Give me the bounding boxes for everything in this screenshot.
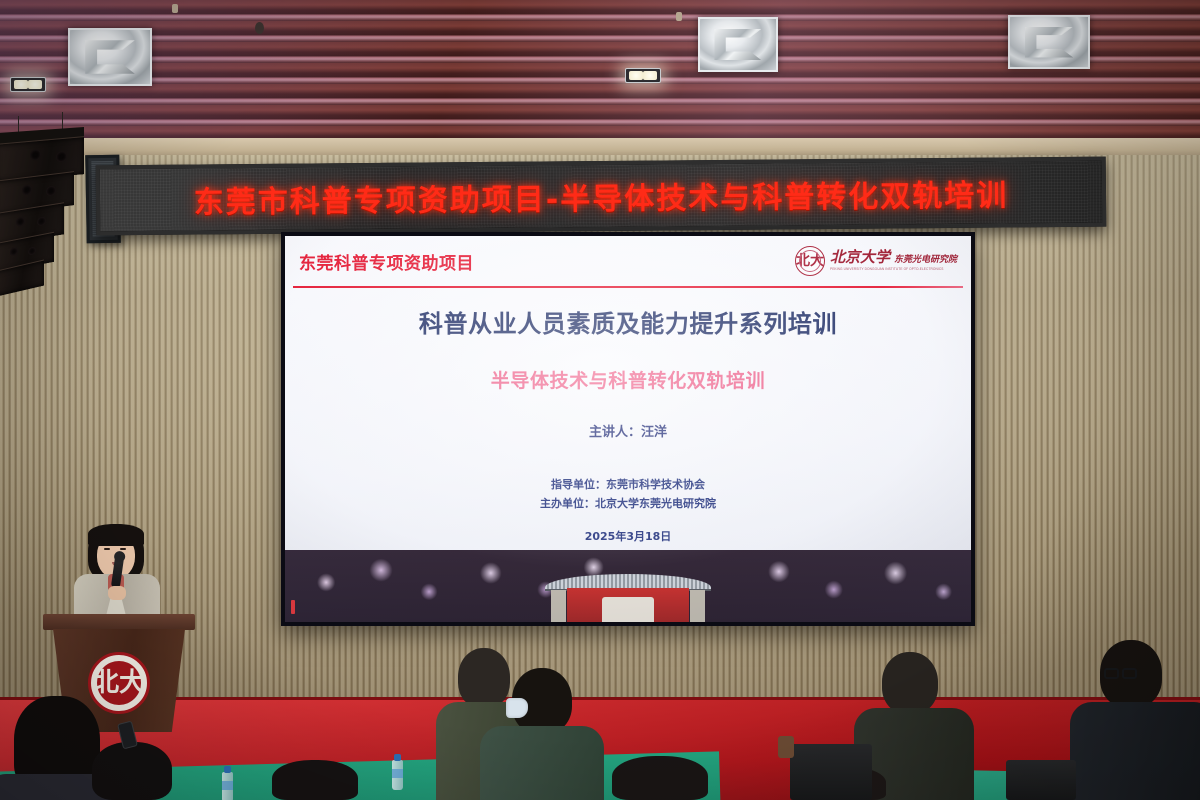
sprinkler-head-icon (676, 12, 682, 21)
logo-university: 北京大学 (830, 250, 890, 266)
audience-member (262, 760, 382, 800)
audience-member (78, 742, 198, 800)
pku-institute-logo: 北大 北京大学 东莞光电研究院 PEKING UNIVERSITY DONGGU… (795, 246, 957, 276)
slide-organizers: 指导单位：东莞市科学技术协会 主办单位：北京大学东莞光电研究院 (285, 475, 971, 514)
ceiling-camera-icon (255, 22, 264, 34)
logo-wordmark: 北京大学 东莞光电研究院 PEKING UNIVERSITY DONGGUAN … (830, 250, 957, 271)
slide-main-title: 科普从业人员素质及能力提升系列培训 (285, 304, 971, 339)
slide-org-line: 主办单位：北京大学东莞光电研究院 (285, 494, 971, 513)
slide-body: 科普从业人员素质及能力提升系列培训 半导体技术与科普转化双轨培训 主讲人：汪洋 … (285, 288, 971, 544)
podium-seal-text: 北大 (93, 670, 145, 696)
presentation-slide: 东莞科普专项资助项目 北大 北京大学 东莞光电研究院 PEKING UNIVER… (285, 236, 971, 622)
slide-speaker-line: 主讲人：汪洋 (285, 421, 971, 440)
audience-member (1088, 640, 1200, 800)
slide-sub-title: 半导体技术与科普转化双轨培训 (285, 366, 971, 393)
water-bottle (392, 760, 403, 790)
slide-photo-strip (285, 550, 971, 622)
slide-header: 东莞科普专项资助项目 北大 北京大学 东莞光电研究院 PEKING UNIVER… (285, 236, 971, 286)
chair-back (1006, 760, 1076, 800)
logo-fine-print: PEKING UNIVERSITY DONGGUAN INSTITUTE OF … (830, 268, 957, 271)
logo-institute: 东莞光电研究院 (894, 256, 957, 265)
led-banner-text: 东莞市科普专项资助项目-半导体技术与科普转化双轨培训 (194, 170, 1009, 221)
pku-west-gate (553, 574, 703, 622)
face-mask-icon (506, 698, 528, 718)
pku-seal-text: 北大 (796, 254, 824, 268)
lecture-hall-photo: 东莞市科普专项资助项目-半导体技术与科普转化双轨培训 东莞科普专项资助 (0, 0, 1200, 800)
led-banner-screen: 东莞市科普专项资助项目-半导体技术与科普转化双轨培训 (100, 161, 1103, 232)
slide-date: 2025年3月18日 (285, 528, 971, 544)
pku-seal-icon: 北大 (795, 246, 825, 276)
led-banner: 东莞市科普专项资助项目-半导体技术与科普转化双轨培训 (96, 157, 1107, 236)
photo-watermark (291, 600, 295, 614)
projection-screen: 东莞科普专项资助项目 北大 北京大学 东莞光电研究院 PEKING UNIVER… (281, 232, 975, 626)
hvac-diffuser-icon (1008, 15, 1090, 69)
chair-back (790, 744, 872, 800)
hvac-diffuser-icon (698, 17, 778, 72)
sprinkler-head-icon (172, 4, 178, 13)
slide-org-line: 指导单位：东莞市科学技术协会 (285, 475, 971, 494)
ceiling-downlight-icon (625, 68, 661, 83)
chair-arm (778, 736, 794, 758)
audience-member (490, 668, 594, 800)
hvac-diffuser-icon (68, 28, 152, 86)
ceiling-downlight-icon (10, 77, 46, 92)
water-bottle (222, 772, 233, 800)
slide-header-label: 东莞科普专项资助项目 (299, 249, 474, 274)
line-array-speaker (0, 130, 96, 325)
audience-member (596, 756, 746, 800)
